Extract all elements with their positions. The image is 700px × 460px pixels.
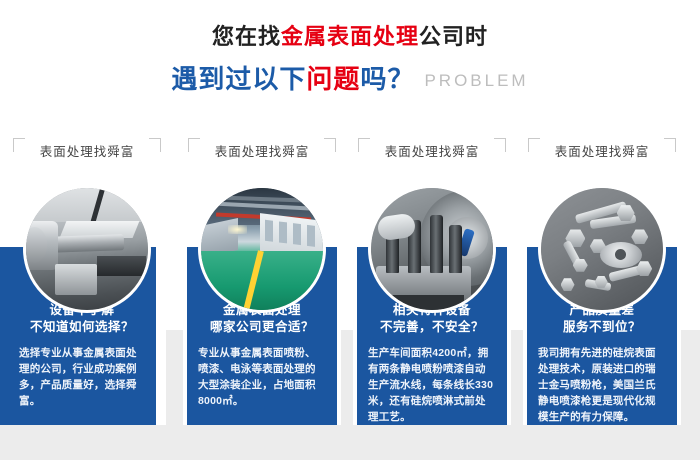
card-header-label: 表面处理找舜富: [526, 142, 678, 162]
card-body-text: 选择专业从事金属表面处理的公司，行业成功案例多，产品质量好，选择舜富。: [19, 345, 147, 409]
problem-card[interactable]: 表面处理找舜富 产品质量差 服务不到位？ 我司拥有先进的硅烷表面处理技术，原装进…: [523, 130, 681, 430]
card-title-line-2: 不知道如何选择？: [8, 319, 156, 336]
metal-fasteners-photo: [538, 185, 666, 313]
card-body-text: 我司拥有先进的硅烷表面处理技术，原装进口的瑞士金马喷粉枪，美国兰氏静电喷漆枪更是…: [538, 345, 666, 425]
card-title-line-2: 不完善，不安全？: [357, 319, 507, 336]
problem-card[interactable]: 表面处理找舜富 设备不了解 不知道如何选择？ 选择专业从事金属表面处理的公司，行…: [8, 130, 166, 430]
headline-secondary: 遇到过以下问题吗？PROBLEM: [0, 52, 700, 98]
card-header-label: 表面处理找舜富: [356, 142, 508, 162]
heading-block: 您在找金属表面处理公司时 遇到过以下问题吗？PROBLEM: [0, 0, 700, 118]
problem-card[interactable]: 表面处理找舜富 相关特种设备 不完善，不安全？ 生产车间面积4200㎡，拥有两条…: [353, 130, 511, 430]
card-body-text: 专业从事金属表面喷粉、喷漆、电泳等表面处理的大型涂装企业，占地面积8000㎡。: [198, 345, 326, 409]
card-title-line-2: 服务不到位？: [527, 319, 677, 336]
machining-tools-photo: [368, 185, 496, 313]
photo-content: [26, 188, 148, 310]
card-header-label: 表面处理找舜富: [186, 142, 338, 162]
card-header: 表面处理找舜富: [356, 138, 508, 168]
problem-card[interactable]: 表面处理找舜富 金属表面处理 哪家公司更合适？ 专业从事金属表面喷粉、喷漆、电泳…: [183, 130, 341, 430]
card-body-text: 生产车间面积4200㎡，拥有两条静电喷粉喷漆自动生产流水线，每条线长330米，还…: [368, 345, 496, 425]
headline-secondary-highlight: 问题: [306, 64, 360, 94]
card-header: 表面处理找舜富: [526, 138, 678, 168]
factory-corridor-photo: [198, 185, 326, 313]
headline-primary-suffix: 公司时: [419, 24, 488, 49]
promo-banner: 您在找金属表面处理公司时 遇到过以下问题吗？PROBLEM 表面处理找舜富 设备…: [0, 0, 700, 460]
photo-content: [201, 188, 323, 310]
headline-primary: 您在找金属表面处理公司时: [0, 0, 700, 52]
problem-card-row: 表面处理找舜富 设备不了解 不知道如何选择？ 选择专业从事金属表面处理的公司，行…: [0, 130, 700, 460]
headline-english-label: PROBLEM: [424, 71, 528, 90]
headline-secondary-suffix: 吗？: [360, 64, 414, 94]
card-header: 表面处理找舜富: [11, 138, 163, 168]
headline-primary-prefix: 您在找: [212, 24, 281, 49]
card-header: 表面处理找舜富: [186, 138, 338, 168]
headline-primary-highlight: 金属表面处理: [281, 24, 419, 49]
lathe-machine-photo: [23, 185, 151, 313]
headline-secondary-prefix: 遇到过以下: [171, 64, 306, 94]
photo-content: [371, 188, 493, 310]
card-title-line-2: 哪家公司更合适？: [187, 319, 337, 336]
card-header-label: 表面处理找舜富: [11, 142, 163, 162]
photo-content: [541, 188, 663, 310]
